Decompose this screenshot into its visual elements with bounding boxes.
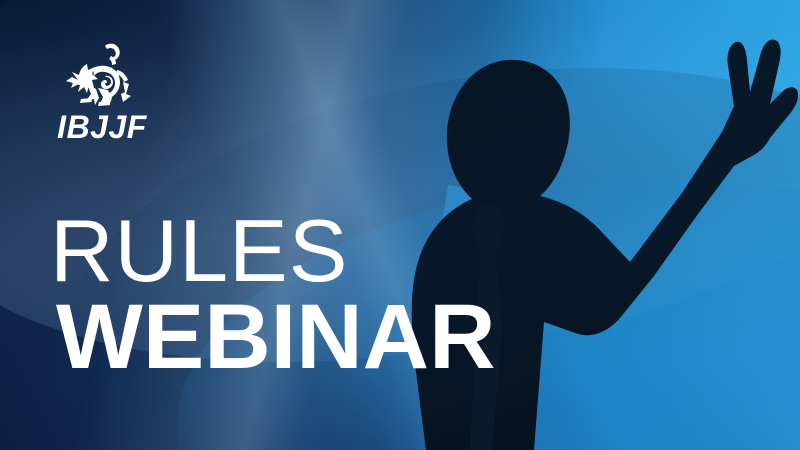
ibjjf-wordmark: IBJJF [42,111,162,143]
headline-line-webinar: WEBINAR [56,294,496,381]
ibjjf-lion-icon [65,42,139,108]
ibjjf-logo: IBJJF [42,42,162,143]
headline-line-rules: RULES [50,210,496,292]
ibjjf-rules-webinar-banner: IBJJF RULES WEBINAR [0,0,800,450]
headline-block: RULES WEBINAR [50,210,496,381]
